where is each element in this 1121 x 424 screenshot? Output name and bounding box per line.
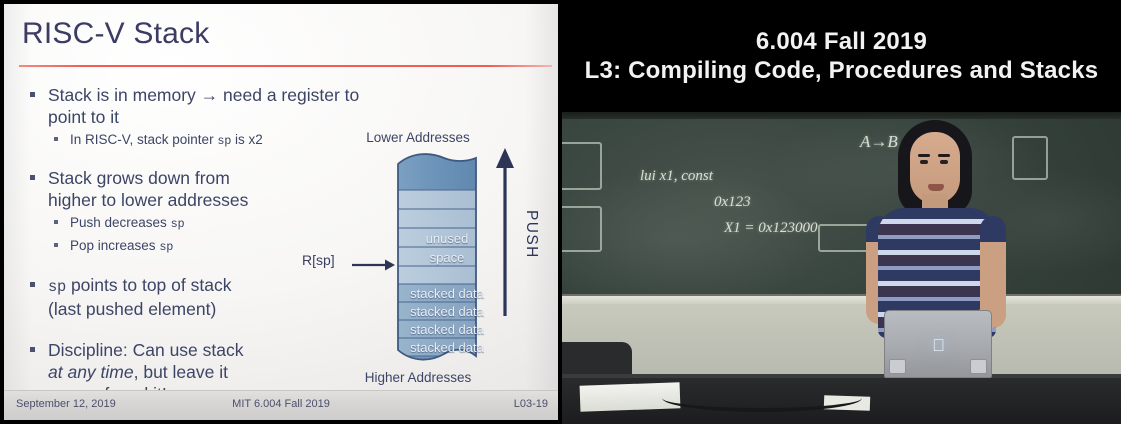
mouth: [928, 184, 944, 191]
bullet-square-icon: [30, 175, 35, 180]
sub-bullet-text-pre: In RISC-V, stack pointer: [70, 132, 217, 147]
slide-footer: September 12, 2019 MIT 6.004 Fall 2019 L…: [4, 390, 558, 420]
eye-right: [940, 160, 948, 164]
bullet-group-1: Stack is in memory → need a register to …: [26, 84, 366, 151]
slide-bullet-list: Stack is in memory → need a register to …: [26, 84, 366, 407]
bullet-text-line2-rest: , but leave it: [134, 362, 228, 382]
sub-bullet-text-pre: Push decreases: [70, 215, 171, 230]
footer-course: MIT 6.004 Fall 2019: [232, 398, 330, 410]
sub-bullet-square-icon: [54, 220, 58, 224]
bullet-text-emphasis: at any time: [48, 362, 134, 382]
higher-addresses-label: Higher Addresses: [318, 370, 518, 385]
page-title: RISC-V Stack: [22, 17, 209, 51]
bullet-text: Stack is in memory → need a register to …: [48, 85, 359, 127]
eyebrow-right: [938, 154, 950, 157]
video-title-card: 6.004 Fall 2019 L3: Compiling Code, Proc…: [562, 0, 1121, 112]
bullet-group-2: Stack grows down from higher to lower ad…: [26, 167, 366, 257]
chalk-note-instruction: lui x1, const: [640, 168, 713, 185]
lecture-video-panel[interactable]: 6.004 Fall 2019 L3: Compiling Code, Proc…: [562, 0, 1121, 424]
sub-bullet-code: sp: [159, 240, 173, 254]
push-direction-indicator: PUSH: [494, 148, 554, 338]
lower-addresses-label: Lower Addresses: [318, 130, 518, 145]
sub-bullet-square-icon: [54, 243, 58, 247]
eyebrow-left: [918, 154, 930, 157]
sub-bullet-item: In RISC-V, stack pointer sp is x2: [26, 130, 366, 151]
bullet-text-line1: points to top of stack: [66, 275, 231, 295]
video-frame[interactable]: A→B→ lui x1, const 0x123 X1 = 0x123000: [562, 112, 1121, 424]
lecture-capture-viewport: RISC-V Stack Stack is in memory → need a…: [0, 0, 1121, 424]
sub-bullet-text-pre: Pop increases: [70, 238, 159, 253]
chalk-box-right-upper: [1012, 136, 1048, 180]
bullet-text-line1: Stack grows down from: [48, 168, 230, 188]
bullet-text-line2: (last pushed element): [48, 299, 216, 319]
bullet-square-icon: [30, 347, 35, 352]
slide-panel: RISC-V Stack Stack is in memory → need a…: [0, 0, 562, 424]
lecture-hall-wall: [562, 294, 1121, 374]
footer-date: September 12, 2019: [16, 398, 116, 410]
desk-edge: [562, 374, 1121, 378]
stack-pointer-arrow-icon: [352, 258, 396, 272]
paper-sheet: [580, 382, 681, 411]
bullet-item: sp points to top of stack (last pushed e…: [26, 274, 366, 320]
chalkboard: A→B→ lui x1, const 0x123 X1 = 0x123000: [562, 112, 1121, 294]
stack-column-graphic: [392, 150, 482, 372]
sub-bullet-square-icon: [54, 137, 58, 141]
chalk-box-left-lower: [562, 206, 602, 252]
sub-bullet-item: Push decreases sp: [26, 213, 366, 234]
macbook-laptop: : [884, 310, 992, 378]
wall-trim: [562, 294, 1121, 304]
stack-pointer-label: R[sp]: [302, 252, 335, 268]
title-underline-rule: [19, 65, 552, 67]
chalk-box-left-upper: [562, 142, 602, 190]
laptop-sticker-right: [970, 359, 987, 374]
chalk-note-hex-const: 0x123: [714, 194, 751, 211]
bullet-text-line2: higher to lower addresses: [48, 190, 248, 210]
apple-logo-icon: : [931, 337, 946, 354]
footer-slide-number: L03-19: [514, 398, 548, 410]
bullet-square-icon: [30, 92, 35, 97]
push-label: PUSH: [522, 210, 540, 259]
chalk-note-register-value: X1 = 0x123000: [724, 220, 817, 237]
chalkboard-rail: [562, 112, 1121, 119]
presentation-slide: RISC-V Stack Stack is in memory → need a…: [4, 4, 558, 420]
bullet-text-line1: Discipline: Can use stack: [48, 340, 244, 360]
push-arrow-icon: [494, 148, 516, 316]
bullet-code-lead: sp: [48, 278, 66, 296]
laptop-sticker-left: [889, 359, 906, 374]
bullet-item: Stack grows down from higher to lower ad…: [26, 167, 366, 211]
stack-memory-diagram: Lower Addresses: [334, 130, 554, 390]
bullet-group-3: sp points to top of stack (last pushed e…: [26, 274, 366, 320]
bullet-item: Stack is in memory → need a register to …: [26, 84, 366, 128]
bullet-square-icon: [30, 282, 35, 287]
sub-bullet-code: sp: [171, 217, 185, 231]
lecture-title: L3: Compiling Code, Procedures and Stack…: [577, 56, 1107, 85]
eye-left: [920, 160, 928, 164]
sub-bullet-code: sp: [217, 134, 231, 148]
sub-bullet-text-post: is x2: [231, 132, 263, 147]
course-title: 6.004 Fall 2019: [756, 27, 927, 56]
